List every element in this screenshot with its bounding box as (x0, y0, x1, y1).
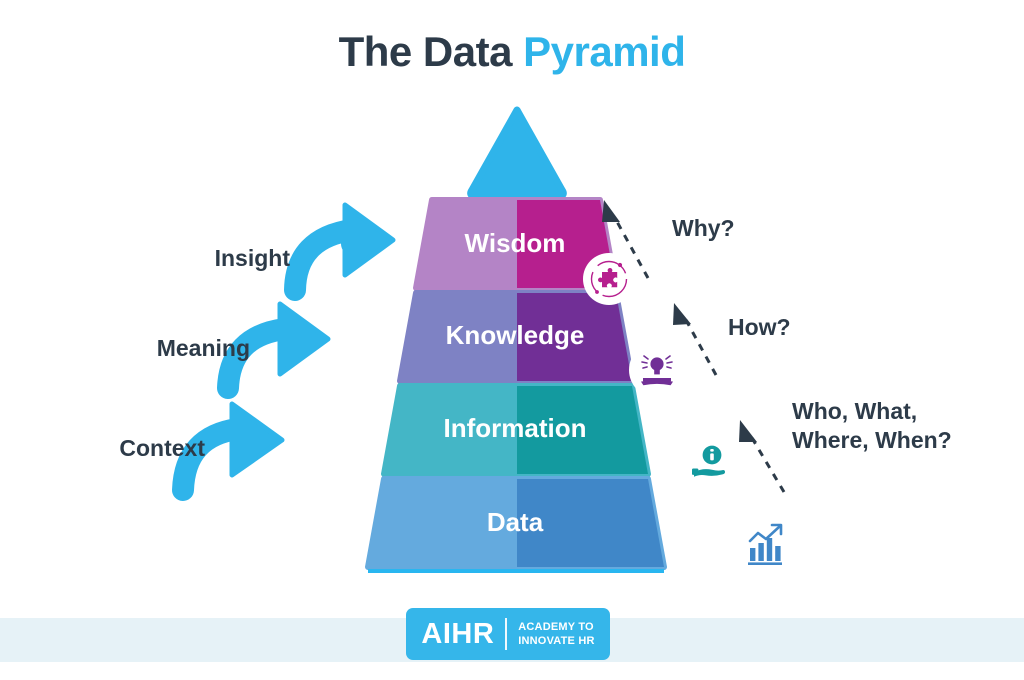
right-label-who-what-where-when: Who, What, Where, When? (792, 397, 952, 455)
logo-divider (505, 618, 507, 650)
badge-data[interactable] (737, 522, 793, 578)
left-label-meaning: Meaning (10, 335, 250, 362)
logo-tagline-line2: INNOVATE HR (518, 634, 594, 648)
right-arrow-who-what-where-when (739, 420, 784, 492)
pyramid-apex (471, 110, 564, 196)
badge-information[interactable] (683, 434, 739, 490)
aihr-logo[interactable]: AIHR ACADEMY TO INNOVATE HR (406, 608, 610, 660)
pyramid-graphic (0, 0, 1024, 600)
right-label-how: How? (728, 313, 791, 342)
tier-divider-data (368, 569, 664, 573)
right-label-why: Why? (672, 214, 735, 243)
pyramid-tier-information[interactable] (384, 381, 667, 481)
logo-tagline: ACADEMY TO INNOVATE HR (507, 620, 594, 648)
right-label-line1: Who, What, (792, 397, 952, 426)
left-label-insight: Insight (30, 245, 290, 272)
pyramid-diagram: Wisdom Knowledge Information Data Insigh… (0, 0, 1024, 600)
left-label-context: Context (0, 435, 205, 462)
pyramid-tier-data[interactable] (368, 474, 687, 574)
badge-knowledge[interactable] (629, 342, 685, 398)
right-label-line2: Where, When? (792, 426, 952, 455)
logo-tagline-line1: ACADEMY TO (518, 620, 594, 634)
logo-wordmark: AIHR (421, 618, 505, 651)
badge-wisdom[interactable] (583, 253, 635, 305)
left-arrow-insight (295, 205, 393, 290)
